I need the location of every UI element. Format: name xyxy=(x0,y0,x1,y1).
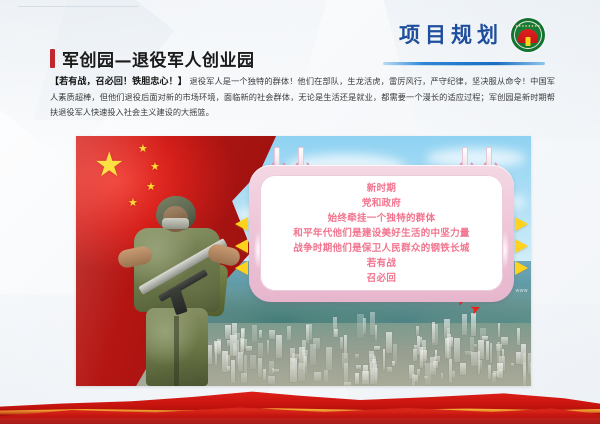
arrow-left-icon-2 xyxy=(235,239,248,253)
arrow-left-icon-1 xyxy=(235,217,248,231)
bottom-ribbon xyxy=(0,372,600,424)
signboard-line: 召必回 xyxy=(367,272,396,285)
arrow-left-icon-3 xyxy=(235,261,248,275)
arrow-group-right xyxy=(508,217,528,283)
emblem-pillar xyxy=(526,37,531,46)
section-title: 项目规划 xyxy=(399,25,503,46)
signboard-line: 始终牵挂一个独特的群体 xyxy=(328,212,436,225)
image-watermark: www xyxy=(516,288,528,294)
signboard-line: 和平年代他们是建设美好生活的中坚力量 xyxy=(293,227,469,240)
arrow-group-left xyxy=(235,217,255,283)
section-header: 项目规划 ★★★★★★★★ xyxy=(399,18,545,52)
flag-star-1: ★ xyxy=(138,144,148,155)
organization-emblem-icon: ★★★★★★★★ xyxy=(511,18,545,52)
arrow-right-icon-3 xyxy=(515,261,528,275)
signboard-line: 战争时期他们是保卫人民群众的钢铁长城 xyxy=(293,242,469,255)
intro-paragraph: 【若有战，召必回！铁胆忠心！】 退役军人是一个独特的群体！他们在部队，生龙活虎，… xyxy=(50,74,555,120)
section-underline xyxy=(383,62,545,65)
paragraph-lead: 【若有战，召必回！铁胆忠心！】 xyxy=(50,77,187,87)
page-title-text: 军创园—退役军人创业园 xyxy=(62,46,255,71)
poster-page: 项目规划 ★★★★★★★★ 军创园—退役军人创业园 【若有战，召必回！铁胆忠心！… xyxy=(0,0,600,424)
signboard-line: 党和政府 xyxy=(362,197,401,210)
emblem-ring-text: ★★★★★★★★ xyxy=(511,24,545,28)
soldier-mask xyxy=(162,218,189,229)
soldier-figure xyxy=(116,196,246,386)
poster-image: ★ ★ ★ ★ ★ ➤ ➤ ➤ xyxy=(76,136,531,386)
signboard-text: 新时期 党和政府 始终牵挂一个独特的群体 和平年代他们是建设美好生活的中坚力量 … xyxy=(260,175,503,291)
arrow-right-icon-1 xyxy=(515,217,528,231)
page-title: 军创园—退役军人创业园 xyxy=(50,46,255,71)
hanging-signboard: 新时期 党和政府 始终牵挂一个独特的群体 和平年代他们是建设美好生活的中坚力量 … xyxy=(249,147,514,302)
signboard-line: 新时期 xyxy=(367,182,396,195)
background-hairline xyxy=(18,6,138,7)
flag-star-3: ★ xyxy=(146,182,156,193)
flag-star-large: ★ xyxy=(94,148,124,182)
arrow-right-icon-2 xyxy=(515,239,528,253)
signboard-frame: 新时期 党和政府 始终牵挂一个独特的群体 和平年代他们是建设美好生活的中坚力量 … xyxy=(249,165,514,302)
title-accent-bar xyxy=(50,49,55,68)
signboard-line: 若有战 xyxy=(367,257,396,270)
flag-star-2: ★ xyxy=(150,162,160,173)
